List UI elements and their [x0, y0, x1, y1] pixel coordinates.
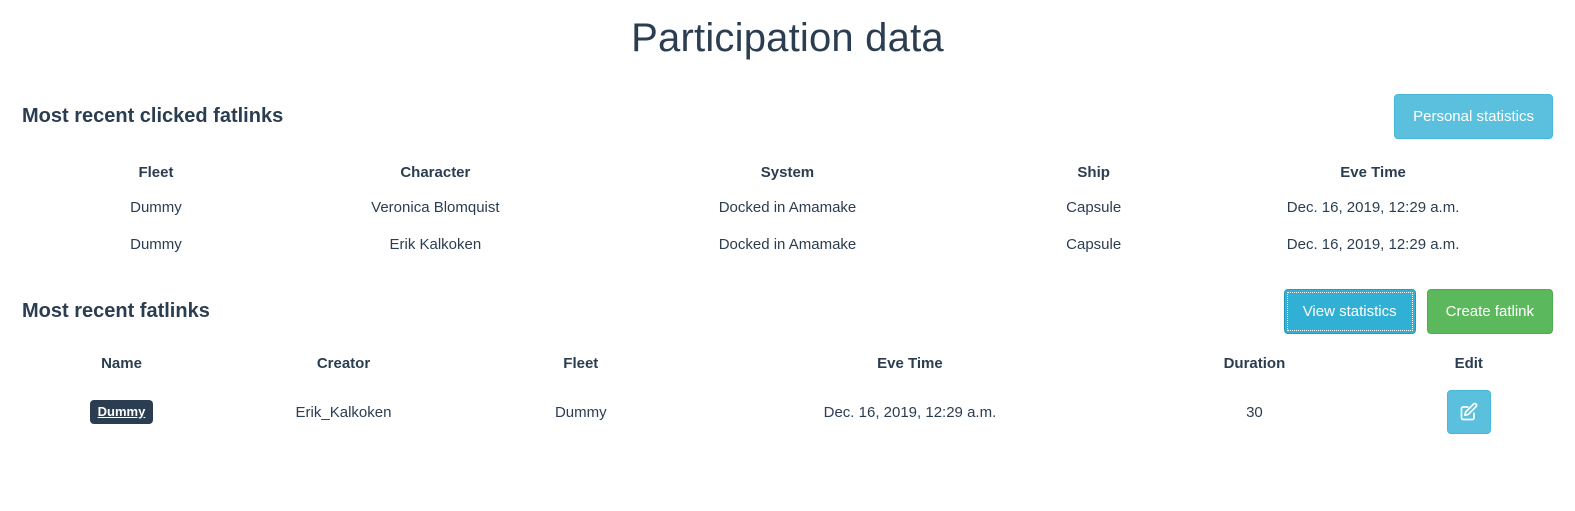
cell-character: Erik Kalkoken — [290, 226, 581, 263]
column-header-eve-time: Eve Time — [696, 347, 1125, 380]
column-header-eve-time: Eve Time — [1193, 156, 1553, 189]
clicked-fatlinks-heading: Most recent clicked fatlinks — [22, 103, 283, 129]
cell-eve-time: Dec. 16, 2019, 12:29 a.m. — [1193, 189, 1553, 226]
cell-ship: Capsule — [994, 189, 1193, 226]
column-header-system: System — [581, 156, 994, 189]
cell-duration: 30 — [1124, 380, 1384, 444]
column-header-ship: Ship — [994, 156, 1193, 189]
table-header-row: Name Creator Fleet Eve Time Duration Edi… — [22, 347, 1553, 380]
cell-fleet: Dummy — [22, 189, 290, 226]
column-header-duration: Duration — [1124, 347, 1384, 380]
edit-pencil-square-icon — [1459, 402, 1479, 422]
table-row: Dummy Veronica Blomquist Docked in Amama… — [22, 189, 1553, 226]
column-header-fleet: Fleet — [466, 347, 696, 380]
table-row: Dummy Erik Kalkoken Docked in Amamake Ca… — [22, 226, 1553, 263]
cell-eve-time: Dec. 16, 2019, 12:29 a.m. — [1193, 226, 1553, 263]
column-header-edit: Edit — [1385, 347, 1553, 380]
cell-system: Docked in Amamake — [581, 189, 994, 226]
table-row: Dummy Erik_Kalkoken Dummy Dec. 16, 2019,… — [22, 380, 1553, 444]
page-title: Participation data — [22, 0, 1553, 66]
fatlink-name-link[interactable]: Dummy — [98, 404, 146, 419]
column-header-name: Name — [22, 347, 221, 380]
column-header-creator: Creator — [221, 347, 466, 380]
column-header-fleet: Fleet — [22, 156, 290, 189]
clicked-fatlinks-table: Fleet Character System Ship Eve Time Dum… — [22, 156, 1553, 263]
cell-fleet: Dummy — [466, 380, 696, 444]
fatlinks-table: Name Creator Fleet Eve Time Duration Edi… — [22, 347, 1553, 444]
edit-fatlink-button[interactable] — [1447, 390, 1491, 434]
cell-fleet: Dummy — [22, 226, 290, 263]
participation-data-page: Participation data Most recent clicked f… — [0, 0, 1575, 511]
clicked-fatlinks-header-row: Most recent clicked fatlinks Personal st… — [22, 92, 1553, 140]
view-statistics-button[interactable]: View statistics — [1284, 289, 1416, 334]
table-header-row: Fleet Character System Ship Eve Time — [22, 156, 1553, 189]
fatlinks-heading: Most recent fatlinks — [22, 298, 210, 324]
cell-system: Docked in Amamake — [581, 226, 994, 263]
cell-ship: Capsule — [994, 226, 1193, 263]
personal-statistics-button[interactable]: Personal statistics — [1394, 94, 1553, 139]
cell-edit — [1385, 380, 1553, 444]
column-header-character: Character — [290, 156, 581, 189]
cell-character: Veronica Blomquist — [290, 189, 581, 226]
fatlinks-header-row: Most recent fatlinks View statistics Cre… — [22, 287, 1553, 335]
cell-creator: Erik_Kalkoken — [221, 380, 466, 444]
clicked-fatlinks-actions: Personal statistics — [1394, 94, 1553, 139]
fatlinks-actions: View statistics Create fatlink — [1284, 289, 1553, 334]
cell-name: Dummy — [22, 380, 221, 444]
fatlink-name-badge: Dummy — [90, 400, 154, 424]
create-fatlink-button[interactable]: Create fatlink — [1427, 289, 1553, 334]
cell-eve-time: Dec. 16, 2019, 12:29 a.m. — [696, 380, 1125, 444]
